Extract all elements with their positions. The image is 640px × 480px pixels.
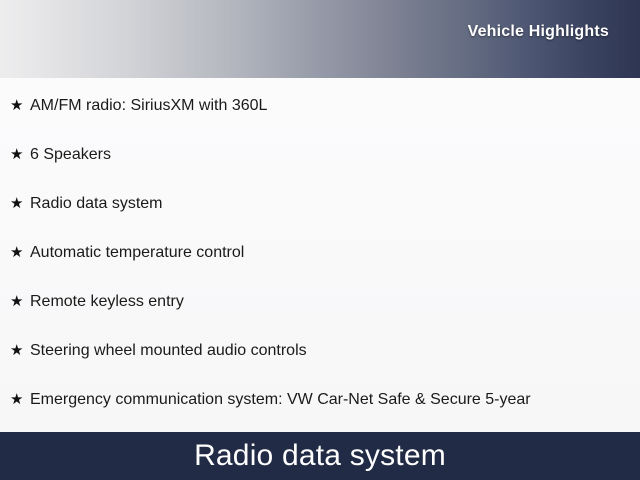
vehicle-feature-list: ★ AM/FM radio: SiriusXM with 360L ★ 6 Sp…: [0, 78, 640, 432]
slide-body: ★ AM/FM radio: SiriusXM with 360L ★ 6 Sp…: [0, 78, 640, 432]
list-item: ★ Remote keyless entry: [0, 294, 640, 343]
feature-label: 6 Speakers: [30, 147, 111, 163]
star-bullet-icon: ★: [10, 196, 30, 211]
feature-label: Steering wheel mounted audio controls: [30, 343, 307, 359]
page-title: Vehicle Highlights: [468, 23, 609, 41]
feature-label: Automatic temperature control: [30, 245, 244, 261]
feature-label: Remote keyless entry: [30, 294, 184, 310]
list-item: ★ Emergency communication system: VW Car…: [0, 392, 640, 432]
vehicle-highlights-slide: Vehicle Highlights ★ AM/FM radio: Sirius…: [0, 0, 640, 480]
list-item: ★ AM/FM radio: SiriusXM with 360L: [0, 98, 640, 147]
slide-footer: Radio data system: [0, 432, 640, 480]
feature-label: Emergency communication system: VW Car-N…: [30, 392, 531, 408]
star-bullet-icon: ★: [10, 392, 30, 407]
list-item: ★ Radio data system: [0, 196, 640, 245]
star-bullet-icon: ★: [10, 98, 30, 113]
list-item: ★ Steering wheel mounted audio controls: [0, 343, 640, 392]
feature-label: Radio data system: [30, 196, 163, 212]
footer-caption: Radio data system: [194, 441, 446, 471]
feature-label: AM/FM radio: SiriusXM with 360L: [30, 98, 267, 114]
slide-header: Vehicle Highlights: [0, 0, 640, 78]
list-item: ★ Automatic temperature control: [0, 245, 640, 294]
star-bullet-icon: ★: [10, 343, 30, 358]
star-bullet-icon: ★: [10, 245, 30, 260]
list-item: ★ 6 Speakers: [0, 147, 640, 196]
star-bullet-icon: ★: [10, 147, 30, 162]
star-bullet-icon: ★: [10, 294, 30, 309]
